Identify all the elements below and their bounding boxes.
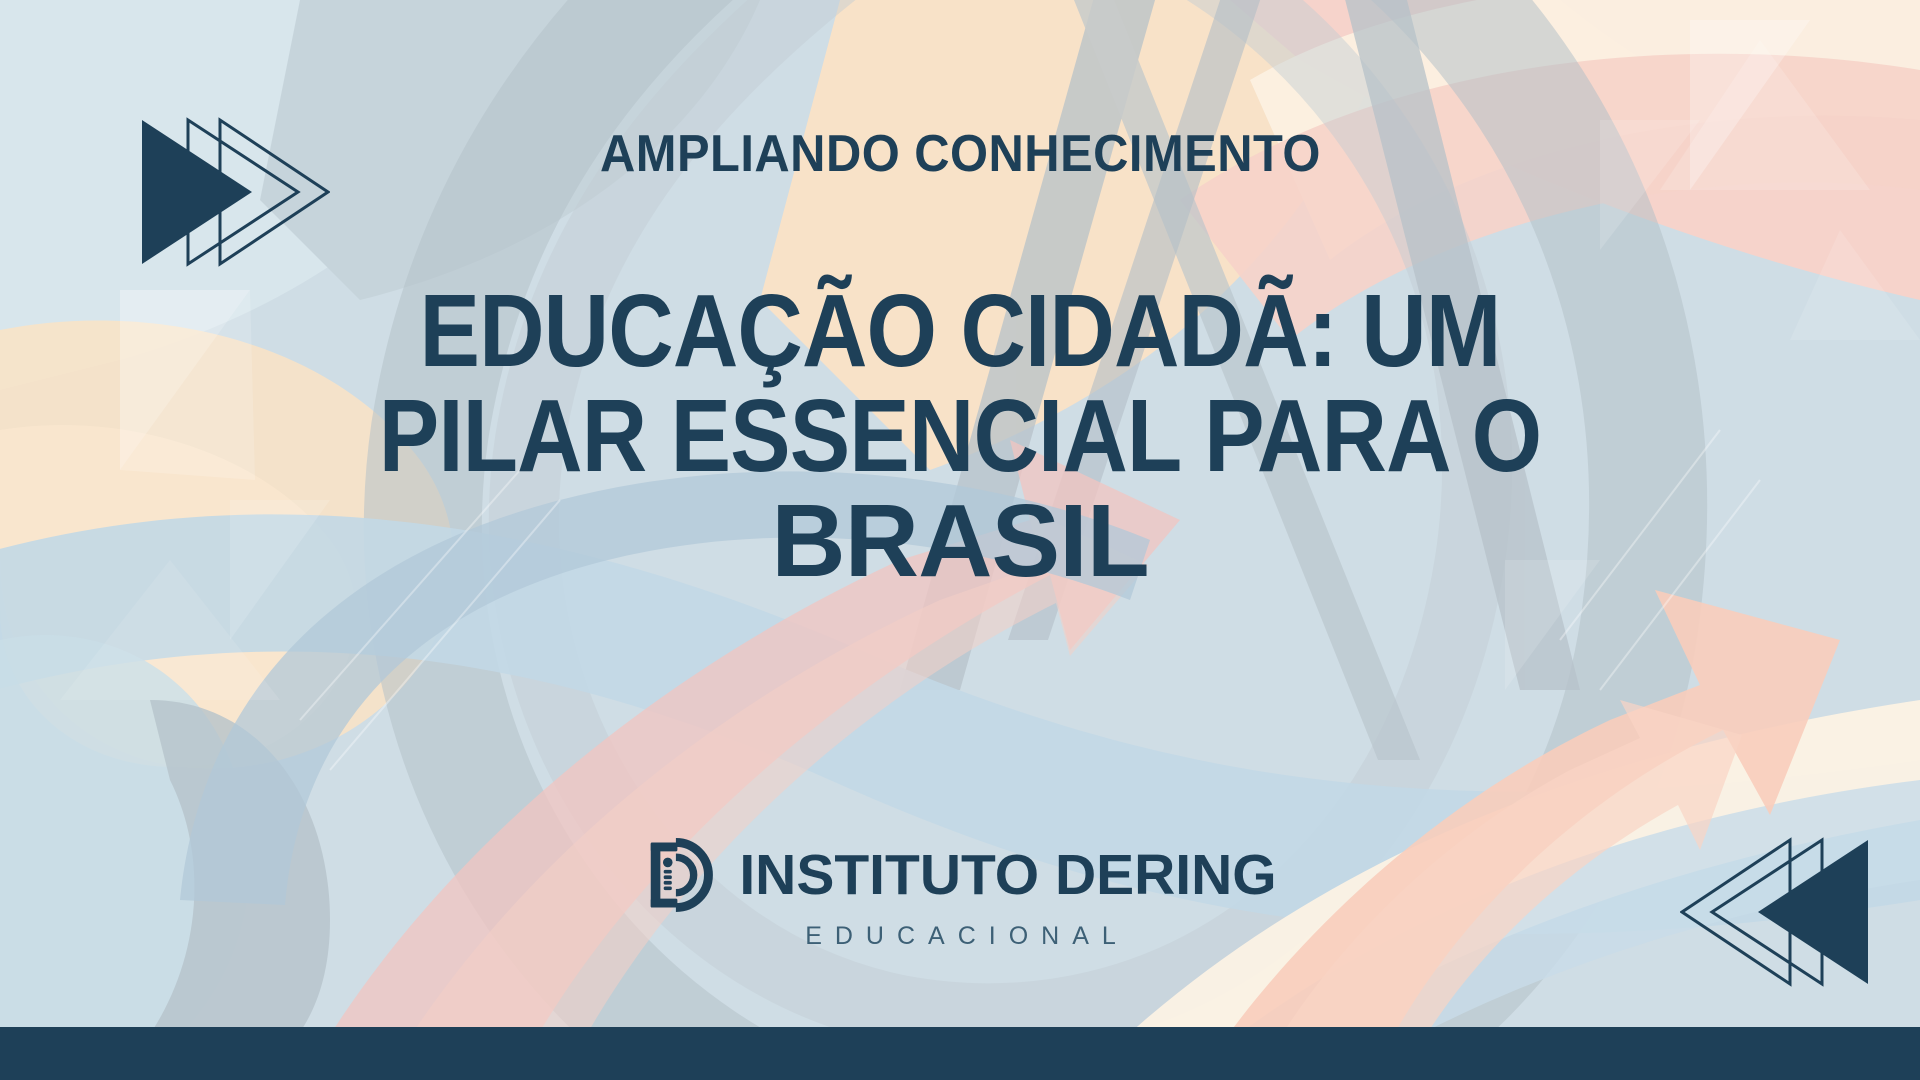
page-title-line-3: BRASIL [280,488,1640,593]
logo-wordmark: INSTITUTO DERING [739,847,1276,904]
triple-play-triangle-left-icon [1680,832,1870,992]
slide-canvas: AMPLIANDO CONHECIMENTO EDUCAÇÃO CIDADÃ: … [0,0,1920,1080]
brand-logo-lockup: INSTITUTO DERING EDUCACIONAL [643,838,1276,949]
page-title-line-2: PILAR ESSENCIAL PARA O [362,383,1559,488]
page-title-line-1: EDUCAÇÃO CIDADÃ: UM [362,278,1559,383]
instituto-dering-d-monogram-icon [643,838,717,912]
logo-subtitle: EDUCACIONAL [791,924,1129,949]
kicker-text: AMPLIANDO CONHECIMENTO [600,128,1321,180]
page-title: EDUCAÇÃO CIDADÃ: UM PILAR ESSENCIAL PARA… [280,278,1640,593]
triple-play-triangle-right-icon [140,112,330,272]
logo-row: INSTITUTO DERING [643,838,1276,912]
bottom-accent-bar [0,1027,1920,1080]
